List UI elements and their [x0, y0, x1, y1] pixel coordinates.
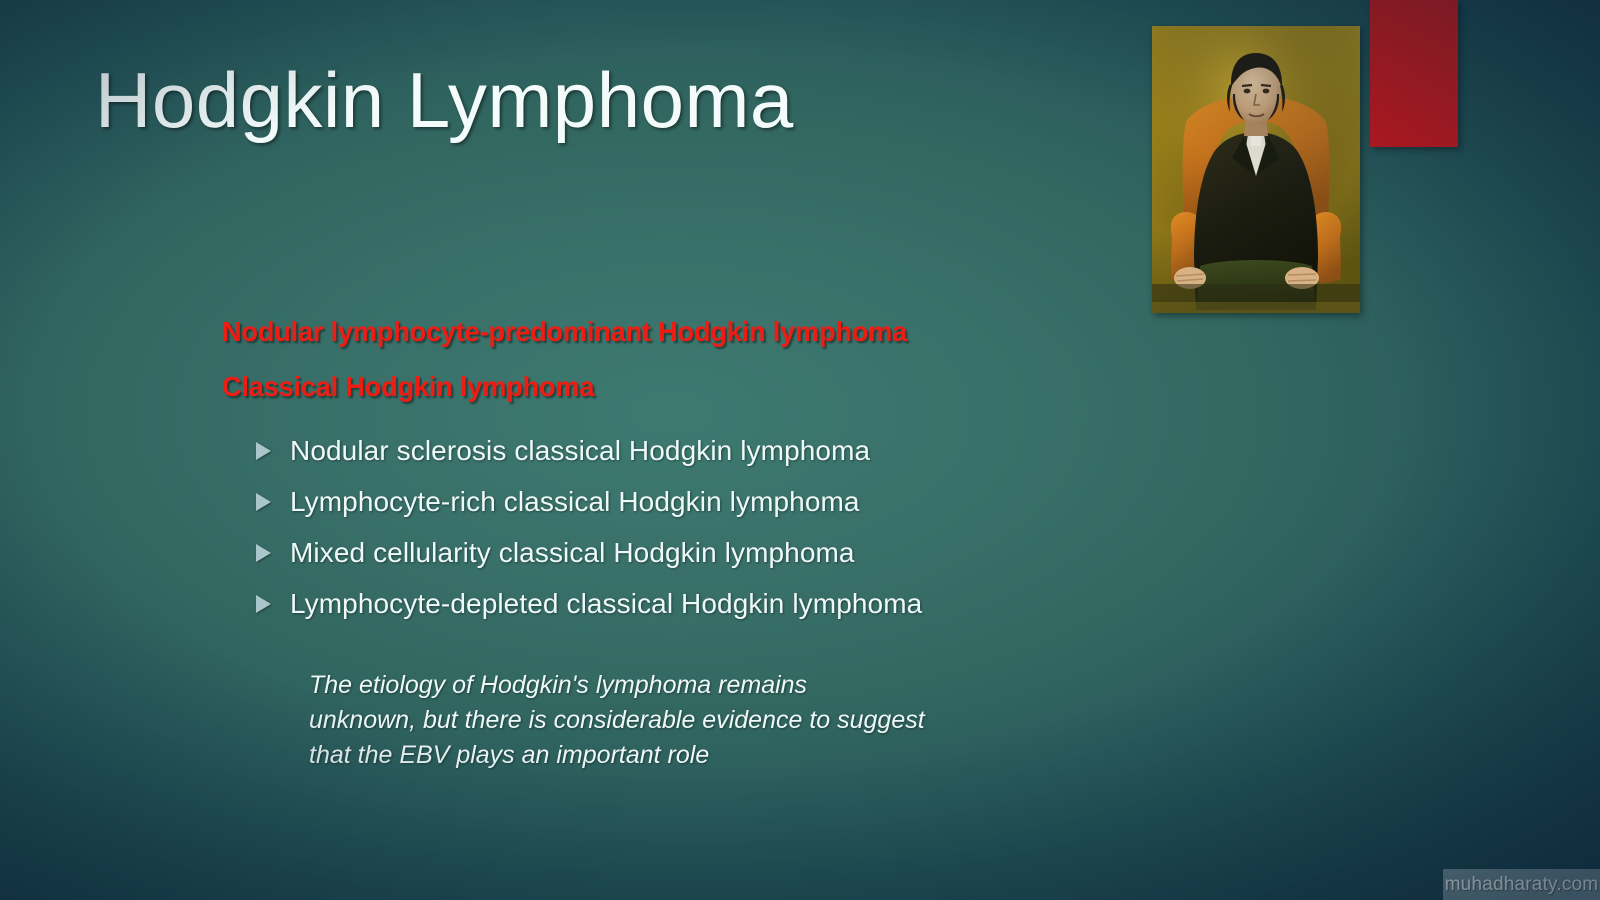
list-item-label: Nodular sclerosis classical Hodgkin lymp… — [290, 435, 870, 467]
note-line: that the EBV plays an important role — [309, 738, 1069, 773]
page-title: Hodgkin Lymphoma — [95, 60, 794, 142]
triangle-right-icon — [256, 544, 271, 562]
list-item: Lymphocyte-depleted classical Hodgkin ly… — [256, 578, 1256, 629]
red-heading-group: Nodular lymphocyte-predominant Hodgkin l… — [222, 318, 1222, 428]
list-item-label: Mixed cellularity classical Hodgkin lymp… — [290, 537, 855, 569]
list-item: Nodular sclerosis classical Hodgkin lymp… — [256, 425, 1256, 476]
portrait-of-thomas-hodgkin-illustration — [1152, 26, 1360, 313]
list-item-label: Lymphocyte-depleted classical Hodgkin ly… — [290, 588, 922, 620]
watermark: muhadharaty.com — [1443, 869, 1600, 900]
list-item: Mixed cellularity classical Hodgkin lymp… — [256, 527, 1256, 578]
presentation-slide: Hodgkin Lymphoma — [0, 0, 1600, 900]
note-line: The etiology of Hodgkin's lymphoma remai… — [309, 668, 1069, 703]
etiology-note: The etiology of Hodgkin's lymphoma remai… — [309, 668, 1069, 773]
red-accent-block — [1370, 0, 1458, 147]
triangle-right-icon — [256, 493, 271, 511]
list-item: Lymphocyte-rich classical Hodgkin lympho… — [256, 476, 1256, 527]
subtype-list: Nodular sclerosis classical Hodgkin lymp… — [256, 425, 1256, 629]
watermark-label: muhadharaty.com — [1445, 874, 1599, 896]
triangle-right-icon — [256, 442, 271, 460]
triangle-right-icon — [256, 595, 271, 613]
heading-nodular-lymphocyte-predominant: Nodular lymphocyte-predominant Hodgkin l… — [222, 318, 1192, 346]
heading-classical-hodgkin-lymphoma: Classical Hodgkin lymphoma — [222, 373, 1192, 401]
note-line: unknown, but there is considerable evide… — [309, 703, 1069, 738]
list-item-label: Lymphocyte-rich classical Hodgkin lympho… — [290, 486, 860, 518]
portrait-image — [1152, 26, 1360, 313]
